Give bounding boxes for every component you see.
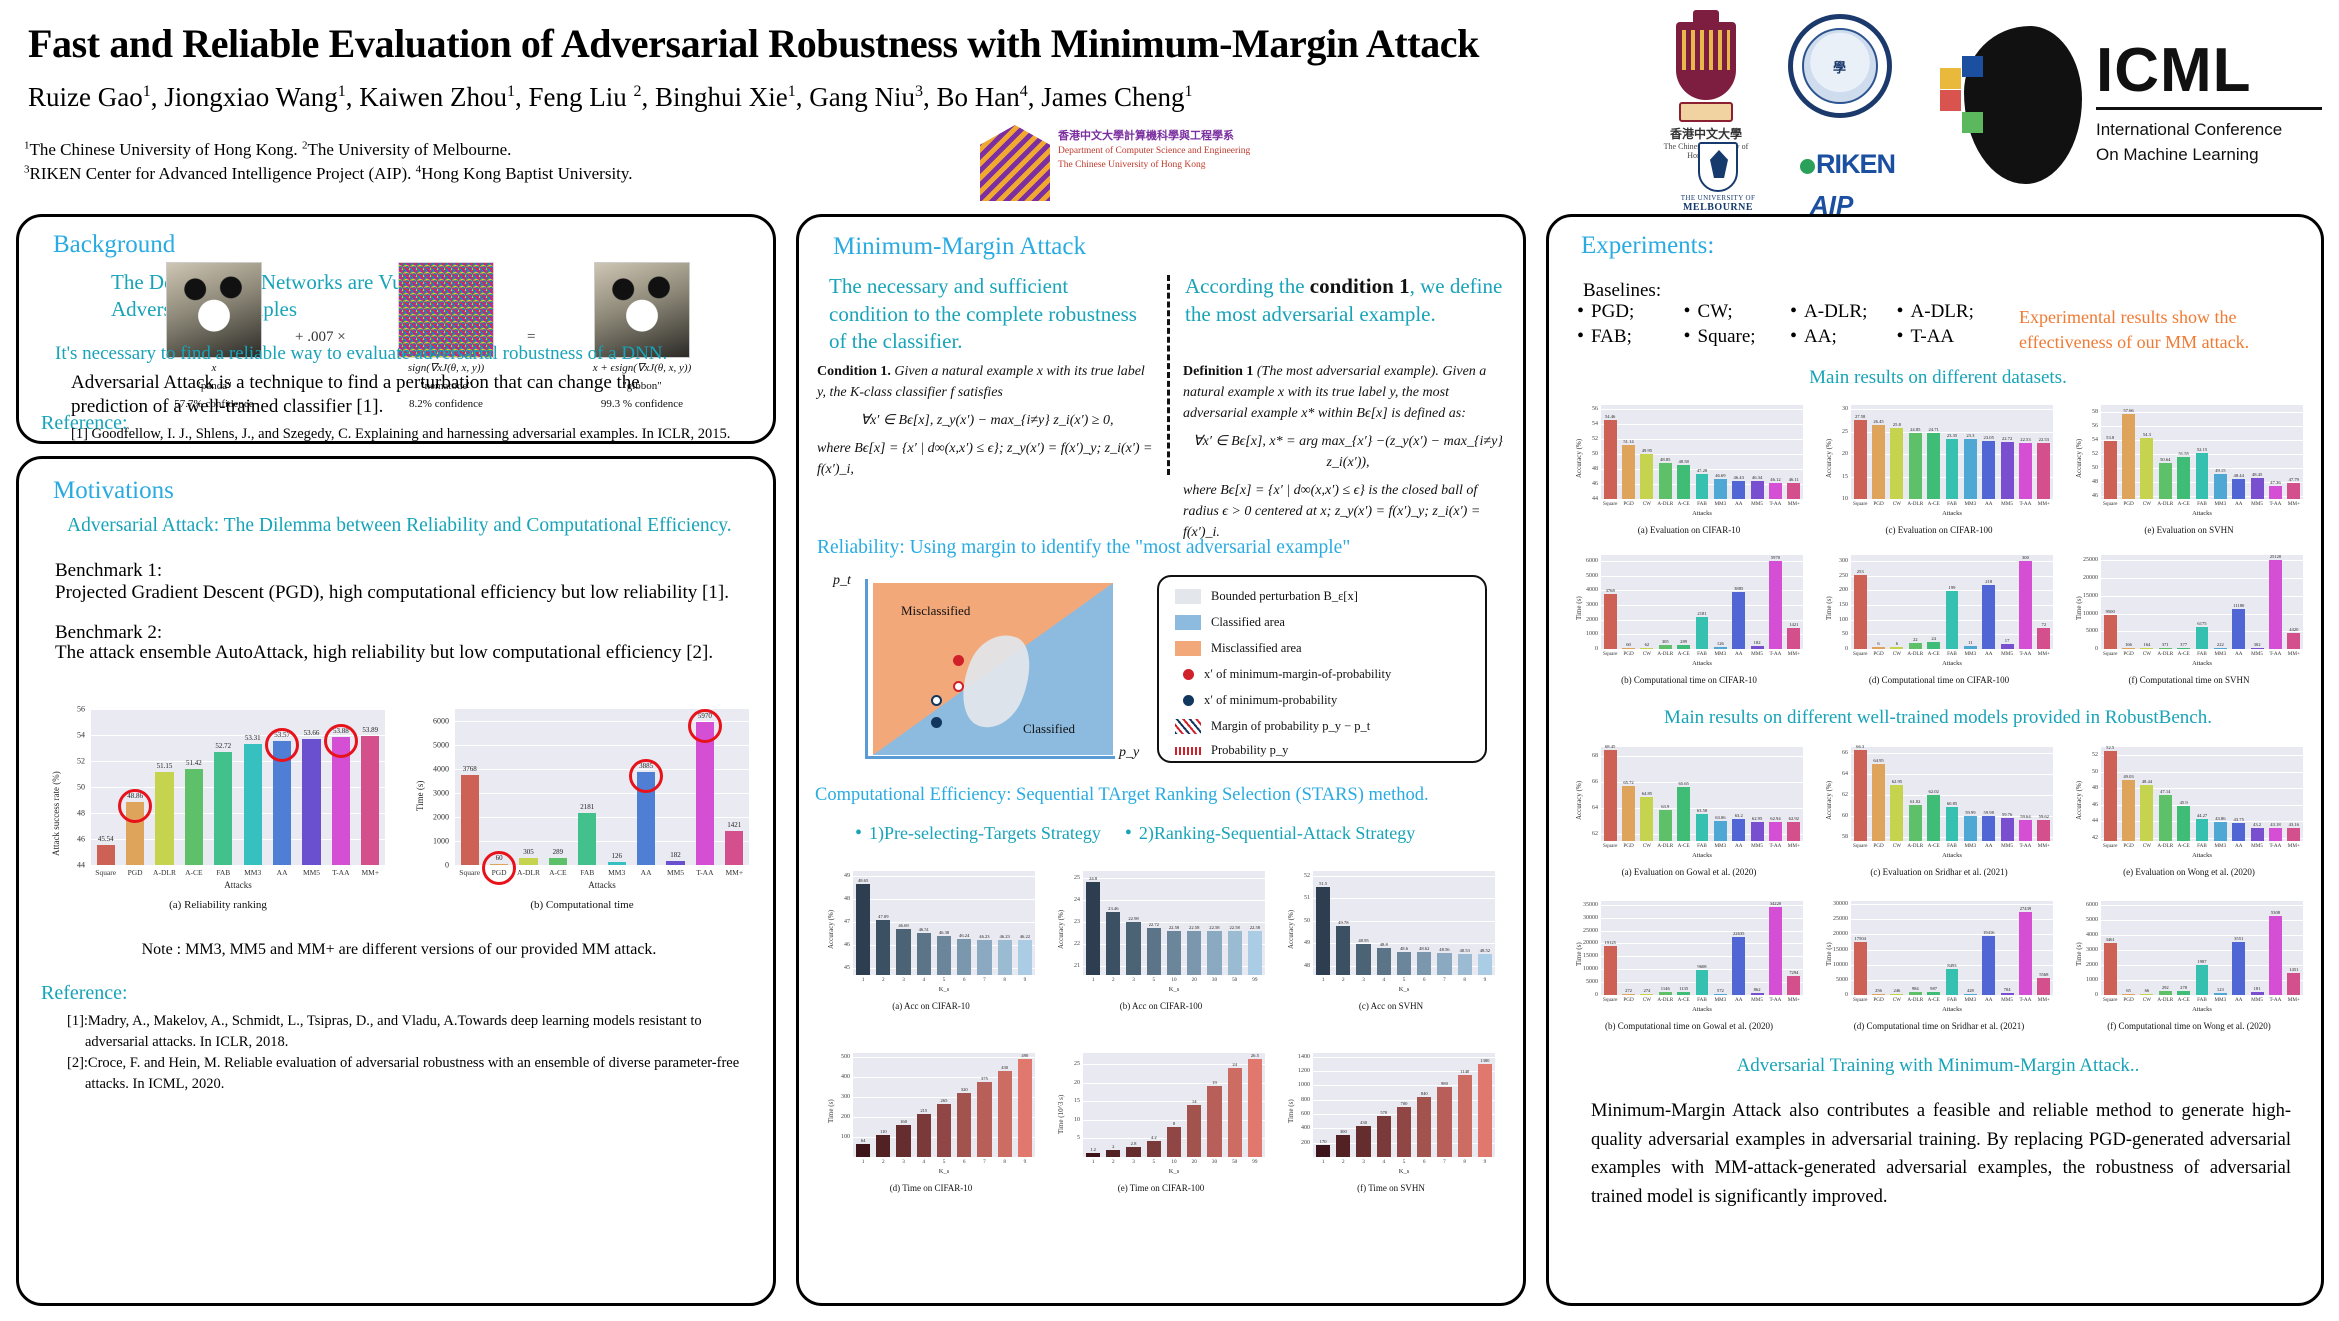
y-axis-label: Time (s): [2075, 596, 2083, 620]
x-axis-tick: MM+: [2288, 501, 2300, 507]
affiliation-line-1: 1The Chinese University of Hong Kong. 2T…: [24, 138, 1074, 162]
y-axis-tick: 4000: [415, 765, 449, 774]
y-axis-label: Accuracy (%): [2075, 439, 2083, 478]
bar-value-label: 65: [2126, 988, 2131, 993]
reliability-diagram: p_t Misclassified Classified p_y Bounded…: [827, 569, 1497, 769]
bar-value-label: 24.8: [1089, 876, 1097, 881]
x-axis-label: Attacks: [1851, 660, 2053, 667]
y-axis-tick: 1000: [1573, 631, 1598, 637]
x-axis-tick: MM3: [1964, 501, 1976, 507]
y-axis-tick: 300: [1823, 558, 1848, 564]
bar-value-label: 23.46: [1108, 906, 1118, 911]
poster-root: Fast and Reliable Evaluation of Adversar…: [0, 0, 2339, 1321]
icml-square-blue-icon: [1962, 56, 1983, 77]
strategy-item-2: 2)Ranking-Sequential-Attack Strategy: [1125, 823, 1415, 844]
baseline-item-2: A-DLR;: [1790, 301, 1891, 323]
x-axis-tick: AA: [1735, 843, 1743, 849]
x-axis-tick: Square: [2103, 843, 2117, 849]
x-axis-tick: T-AA: [2019, 651, 2031, 657]
bar-value-label: 1135: [1679, 986, 1688, 991]
bar-value-label: 24.71: [1928, 427, 1938, 432]
bar: [1946, 439, 1959, 499]
x-axis-tick: 5: [1152, 1159, 1155, 1165]
bar: [608, 862, 626, 865]
y-axis-tick: 0: [1573, 646, 1598, 652]
chart-eval-gowal: 6264666868.45Square65.72PGD64.85CW63.9A-…: [1571, 739, 1807, 879]
x-axis-tick: 2: [1342, 1159, 1345, 1165]
x-axis-tick: T-AA: [332, 868, 349, 877]
bar: [2122, 648, 2135, 649]
x-axis-tick: PGD: [1873, 501, 1883, 507]
x-axis-tick: CW: [1643, 843, 1651, 849]
x-axis-tick: T-AA: [1769, 997, 1781, 1003]
x-axis-tick: 50: [1232, 977, 1237, 983]
bar: [1018, 940, 1032, 975]
bar: [155, 772, 173, 865]
bar: [1714, 994, 1727, 995]
bar: [1622, 648, 1635, 649]
orange-note-line2: effectiveness of our MM attack.: [2019, 330, 2319, 355]
benchmark1-body: Projected Gradient Descent (PGD), high c…: [55, 579, 765, 607]
baseline-label-2: A-DLR;: [1804, 301, 1867, 323]
baseline-item-7: T-AA: [1897, 326, 1998, 348]
x-axis-tick: 1: [1092, 977, 1095, 983]
bar: [1086, 1153, 1100, 1157]
x-axis-tick: A-CE: [549, 868, 567, 877]
y-axis-label: Attack success rate (%): [51, 771, 61, 856]
gridline: [2101, 995, 2303, 996]
x-axis-tick: 3: [1362, 977, 1365, 983]
x-axis-tick: 1: [1092, 1159, 1095, 1165]
bar: [2232, 823, 2245, 841]
bar: [2214, 822, 2227, 841]
panel-experiments: Experiments: Baselines: PGD; CW; A-DLR; …: [1546, 214, 2324, 1306]
x-axis-tick: MM5: [1751, 843, 1763, 849]
chart-computational-time-caption: (b) Computational time: [407, 899, 757, 911]
x-axis-tick: 5: [1403, 1159, 1406, 1165]
bar: [1909, 805, 1922, 841]
x-axis-tick: T-AA: [2269, 651, 2281, 657]
x-axis-tick: AA: [2235, 843, 2243, 849]
x-axis-tick: T-AA: [2269, 501, 2281, 507]
x-axis-tick: 30: [1212, 1159, 1217, 1165]
bar: [957, 939, 971, 975]
bar: [937, 936, 951, 975]
bar: [2122, 414, 2135, 499]
x-axis-tick: 7: [983, 977, 986, 983]
bar: [1854, 575, 1867, 649]
x-axis-tick: MM5: [667, 868, 684, 877]
bar-value-label: 53.8: [2106, 435, 2114, 440]
bar-value-label: 5970: [1771, 555, 1780, 560]
y-axis-tick: 5000: [2073, 917, 2098, 923]
bar: [2251, 478, 2264, 499]
bar-value-label: 63.58: [1697, 808, 1707, 813]
bar: [1316, 887, 1330, 975]
bar-value-label: 45.9: [2180, 800, 2188, 805]
bar: [2232, 479, 2245, 499]
bar: [2251, 828, 2264, 841]
bar: [1677, 992, 1690, 995]
bar: [2019, 561, 2032, 649]
bar: [1696, 474, 1709, 499]
icml-square-yellow-icon: [1940, 68, 1961, 89]
bar-value-label: 49.78: [1338, 920, 1348, 925]
y-axis-tick: 52: [1285, 873, 1310, 879]
bar: [896, 929, 910, 975]
bar: [1946, 591, 1959, 649]
bar: [2251, 648, 2264, 649]
x-axis-tick: 1: [1322, 977, 1325, 983]
x-axis-tick: 10: [1171, 977, 1176, 983]
logo-strip: 香港中文大學 The Chinese University of Hong Ko…: [1610, 4, 2330, 204]
bar-value-label: 274: [1643, 988, 1650, 993]
x-axis-tick: FAB: [1947, 651, 1957, 657]
bar-value-label: 2181: [580, 803, 594, 811]
chart-acc-cifar10-ks: 454647484948.65147.09246.69346.51446.385…: [823, 863, 1039, 1013]
bar-value-label: 23.3: [1966, 433, 1974, 438]
chart-caption: (a) Evaluation on Gowal et al. (2020): [1571, 867, 1807, 877]
x-axis-tick: CW: [2143, 843, 2151, 849]
x-axis-tick: AA: [1735, 501, 1743, 507]
bar: [2196, 453, 2209, 499]
bar-value-label: 51.5: [1319, 881, 1327, 886]
bar-value-label: 300: [2022, 555, 2029, 560]
panel-background: Background The Deep Neural Networks are …: [16, 214, 776, 444]
x-axis-tick: AA: [1735, 997, 1743, 1003]
bar: [1751, 481, 1764, 499]
bar-value-label: 1987: [2197, 959, 2206, 964]
bar-value-label: 17504: [1854, 936, 1865, 941]
x-axis-tick: FAB: [1947, 997, 1957, 1003]
x-axis-tick: MM5: [2001, 501, 2013, 507]
bar: [1964, 646, 1977, 649]
y-axis-tick: 0: [1823, 992, 1848, 998]
x-axis-tick: 4: [1382, 977, 1385, 983]
experiments-panel-title: Experiments:: [1581, 233, 1781, 259]
x-axis-tick: MM5: [2001, 843, 2013, 849]
bar-value-label: 2.8: [1131, 1141, 1137, 1146]
bar-value-label: 49.03: [2123, 774, 2133, 779]
bar: [2104, 441, 2117, 499]
chart-reliability-ranking: 4446485052545645.54Square48.86PGD51.15A-…: [43, 699, 393, 899]
chart-caption: (e) Evaluation on Wong et al. (2020): [2071, 867, 2307, 877]
y-axis-tick: 24: [1055, 897, 1080, 903]
y-axis-tick: 5000: [1573, 979, 1598, 985]
bar-value-label: 6: [1877, 641, 1879, 646]
bar: [998, 1071, 1012, 1157]
x-axis-label: Attacks: [1601, 852, 1803, 859]
gridline: [91, 865, 385, 866]
bar: [2159, 795, 2172, 841]
bar-value-label: 17: [2005, 638, 2010, 643]
x-axis-tick: T-AA: [1769, 501, 1781, 507]
bar: [1478, 1064, 1492, 1157]
bar-value-label: 59.98: [1984, 810, 1994, 815]
x-axis-tick: 7: [1443, 1159, 1446, 1165]
bar: [1696, 814, 1709, 841]
legend-label-2: Misclassified area: [1211, 641, 1302, 656]
bar-value-label: 8: [1173, 1121, 1175, 1126]
bar-value-label: 53.31: [245, 734, 261, 742]
bar: [2269, 916, 2282, 995]
bar-value-label: 64.85: [1642, 791, 1652, 796]
bar-value-label: 19125: [1604, 940, 1615, 945]
bar: [2001, 818, 2014, 841]
bar-value-label: 22.53: [2039, 437, 2049, 442]
x-axis-tick: MM+: [2038, 843, 2050, 849]
chart-caption: (b) Acc on CIFAR-100: [1053, 1001, 1269, 1011]
x-axis-tick: 20: [1192, 977, 1197, 983]
bar: [1604, 420, 1617, 499]
y-axis-tick: 10000: [1573, 966, 1598, 972]
x-axis-tick: 4: [1382, 1159, 1385, 1165]
x-axis-tick: AA: [2235, 997, 2243, 1003]
bar: [1964, 439, 1977, 499]
bar-value-label: 65.65: [1678, 781, 1688, 786]
bar-value-label: 1300: [1480, 1058, 1489, 1063]
bar-value-label: 46.51: [919, 927, 929, 932]
y-axis-label: Accuracy (%): [1057, 910, 1065, 949]
bar: [1964, 816, 1977, 841]
bar-value-label: 862: [1754, 987, 1761, 992]
melbourne-logo-line1: THE UNIVERSITY OF: [1658, 194, 1778, 202]
bar: [1927, 433, 1940, 499]
x-axis-tick: 3: [1362, 1159, 1365, 1165]
melbourne-logo-line2: MELBOURNE: [1658, 202, 1778, 213]
x-axis-tick: Square: [1603, 843, 1617, 849]
bar: [1927, 992, 1940, 995]
x-axis-tick: 9: [1024, 977, 1027, 983]
y-axis-tick: 68: [1573, 753, 1598, 759]
bar-value-label: 110: [880, 1129, 887, 1134]
baseline-item-1: CW;: [1684, 301, 1785, 323]
bar: [1696, 970, 1709, 995]
bar: [1787, 976, 1800, 995]
gridline: [1083, 900, 1265, 901]
x-axis-tick: MM5: [1751, 501, 1763, 507]
y-axis-label: Time (s): [1287, 1099, 1295, 1123]
x-axis-tick: FAB: [2197, 651, 2207, 657]
bar-value-label: 49.95: [1642, 448, 1652, 453]
x-axis-tick: 6: [963, 1159, 966, 1165]
bar: [2001, 993, 2014, 995]
x-axis-tick: 3: [902, 977, 905, 983]
bar: [1659, 463, 1672, 499]
bar-value-label: 64: [861, 1138, 866, 1143]
bar-value-label: 27.58: [1855, 414, 1865, 419]
bar: [2177, 457, 2190, 499]
highlight-circle: [324, 724, 358, 758]
x-axis-label: K_s: [1313, 1168, 1495, 1175]
y-axis-tick: 52: [2073, 752, 2098, 758]
bar: [2196, 965, 2209, 995]
y-axis-tick: 500: [825, 1054, 850, 1060]
x-axis-tick: AA: [277, 868, 288, 877]
bar: [1458, 1075, 1472, 1157]
motivations-reference-2: [2]:Croce, F. and Hein, M. Reliable eval…: [67, 1053, 767, 1095]
x-axis-tick: 9: [1024, 1159, 1027, 1165]
background-panel-title: Background: [53, 231, 175, 259]
baseline-item-6: AA;: [1790, 326, 1891, 348]
x-axis-label: Attacks: [1851, 510, 2053, 517]
x-axis-tick: A-CE: [1678, 997, 1690, 1003]
bar-value-label: 62.92: [1789, 816, 1799, 821]
bar: [1751, 993, 1764, 995]
bar: [2177, 806, 2190, 841]
experiments-robustbench-heading: Main results on different well-trained m…: [1549, 707, 2324, 729]
baseline-item-4: FAB;: [1577, 326, 1678, 348]
x-axis-tick: A-CE: [1678, 843, 1690, 849]
bar: [244, 744, 262, 865]
bar-value-label: 2181: [1697, 611, 1706, 616]
x-axis-tick: PGD: [1623, 997, 1633, 1003]
bar-value-label: 222: [2217, 642, 2224, 647]
x-axis-label: K_s: [1083, 1168, 1265, 1175]
x-axis-tick: 8: [1003, 977, 1006, 983]
y-axis-tick: 54: [1573, 421, 1598, 427]
bar-value-label: 840: [1421, 1091, 1428, 1096]
x-axis-label: Attacks: [2101, 852, 2303, 859]
bar-value-label: 22635: [1733, 931, 1744, 936]
cuhk-crest-logo: 香港中文大學 The Chinese University of Hong Ko…: [1660, 10, 1752, 135]
bar: [2001, 644, 2014, 649]
bar: [2140, 994, 2153, 995]
chart-caption: (d) Computational time on Sridhar et al.…: [1821, 1021, 2057, 1031]
x-axis-tick: Square: [1853, 651, 1867, 657]
bar-value-label: 22.98: [1128, 916, 1138, 921]
x-axis-tick: 50: [1232, 1159, 1237, 1165]
x-axis-tick: 5: [943, 1159, 946, 1165]
bar-value-label: 246: [1893, 988, 1900, 993]
bar: [1659, 645, 1672, 649]
bar: [1677, 787, 1690, 841]
bar-value-label: 25120: [2270, 554, 2281, 559]
baseline-item-3: A-DLR;: [1897, 301, 1998, 323]
bar: [1622, 786, 1635, 841]
x-axis-tick: FAB: [1697, 501, 1707, 507]
bar: [1982, 441, 1995, 499]
bar: [1732, 819, 1745, 841]
bar: [876, 920, 890, 975]
x-axis-tick: 30: [1212, 977, 1217, 983]
bar-value-label: 46.69: [898, 923, 908, 928]
x-axis-tick: Square: [95, 868, 116, 877]
bar: [725, 831, 743, 865]
x-axis-tick: MM3: [2214, 651, 2226, 657]
bar-value-label: 14: [1192, 1099, 1197, 1104]
y-axis-label: Time (s): [1575, 942, 1583, 966]
y-axis-tick: 20000: [2073, 575, 2098, 581]
chart-time-cifar10: 01000200030004000500060003768Square60PGD…: [1571, 547, 1807, 687]
bar-value-label: 43.16: [2289, 822, 2299, 827]
poster-header: Fast and Reliable Evaluation of Adversar…: [0, 0, 2339, 210]
x-axis-tick: A-DLR: [2157, 651, 2173, 657]
bar: [1909, 643, 1922, 649]
bar-value-label: 45.54: [98, 835, 114, 843]
bar-value-label: 6175: [2197, 621, 2206, 626]
y-axis-tick: 35000: [1573, 902, 1598, 908]
bar-value-label: 430: [1001, 1065, 1008, 1070]
bar-value-label: 164: [2143, 642, 2150, 647]
bar: [1769, 907, 1782, 995]
bar: [1417, 1097, 1431, 1157]
x-axis-tick: MM+: [2288, 997, 2300, 1003]
chart-time-sridhar: 05000100001500020000250003000017504Squar…: [1821, 893, 2057, 1033]
bar-value-label: 9500: [2106, 609, 2115, 614]
bar: [2287, 633, 2300, 649]
x-axis-tick: CW: [2143, 651, 2151, 657]
affiliations: 1The Chinese University of Hong Kong. 2T…: [24, 138, 1074, 186]
x-axis-tick: AA: [2235, 501, 2243, 507]
definition-1-where: where Bϵ[x] = {x′ | d∞(x,x′) ≤ ϵ} is the…: [1183, 480, 1513, 543]
gridline: [1601, 409, 1803, 410]
bar-value-label: 43.18: [2270, 822, 2280, 827]
bar: [1677, 645, 1690, 649]
y-axis-tick: 64: [1823, 771, 1848, 777]
bar: [1982, 816, 1995, 841]
bar-value-label: 11180: [2233, 603, 2244, 608]
bar: [1732, 592, 1745, 649]
x-axis-tick: A-CE: [185, 868, 203, 877]
bar: [1437, 1087, 1451, 1157]
x-axis-tick: A-DLR: [2157, 997, 2173, 1003]
bar: [1714, 647, 1727, 649]
bar: [1872, 647, 1885, 649]
bar-value-label: 215: [920, 1108, 927, 1113]
bar: [1147, 928, 1161, 975]
y-axis-tick: 25000: [1573, 928, 1598, 934]
bar: [2287, 483, 2300, 499]
university-seal-logo: 學: [1788, 14, 1898, 126]
y-axis-tick: 46: [2073, 493, 2098, 499]
bar: [1356, 1126, 1370, 1157]
legend-label-6: Probability p_y: [1211, 743, 1288, 758]
bar-value-label: 52.15: [2197, 447, 2207, 452]
x-axis-tick: Square: [2103, 501, 2117, 507]
x-axis-tick: A-DLR: [1907, 997, 1923, 1003]
background-teal-line: It's necessary to find a reliable way to…: [55, 343, 667, 365]
bar-value-label: 24: [1931, 636, 1936, 641]
y-axis-tick: 30: [1823, 406, 1848, 412]
cuhk-cse-logo: 香港中文大學計算機科學與工程學系 Department of Computer …: [980, 125, 1280, 203]
x-axis-tick: T-AA: [1769, 651, 1781, 657]
icml-subtitle-1: International Conference: [2096, 117, 2322, 143]
baselines-list: PGD; CW; A-DLR; A-DLR; FAB; Square; AA; …: [1577, 301, 1997, 348]
bar-value-label: 278: [2180, 985, 2187, 990]
x-axis-tick: CW: [1643, 501, 1651, 507]
bar-value-label: 24: [1232, 1062, 1237, 1067]
x-axis-tick: MM3: [2214, 501, 2226, 507]
x-axis-tick: MM3: [1964, 997, 1976, 1003]
bar: [1207, 1086, 1221, 1157]
x-axis-tick: CW: [1893, 843, 1901, 849]
x-axis-tick: CW: [1893, 997, 1901, 1003]
x-axis-tick: 5: [1152, 977, 1155, 983]
x-axis-tick: Square: [2103, 651, 2117, 657]
bar-value-label: 8493: [1947, 963, 1956, 968]
x-axis-tick: A-CE: [2178, 997, 2190, 1003]
bar-value-label: 570: [1380, 1110, 1387, 1115]
bar-value-label: 46.12: [1770, 477, 1780, 482]
panel-motivations: Motivations Adversarial Attack: The Dile…: [16, 456, 776, 1306]
bar-value-label: 54.46: [1605, 414, 1615, 419]
bar-value-label: 48.6: [1400, 946, 1408, 951]
x-axis-tick: CW: [1643, 651, 1651, 657]
bar: [1336, 926, 1350, 975]
bar-value-label: 160: [900, 1119, 907, 1124]
x-axis-label: Attacks: [2101, 1006, 2303, 1013]
